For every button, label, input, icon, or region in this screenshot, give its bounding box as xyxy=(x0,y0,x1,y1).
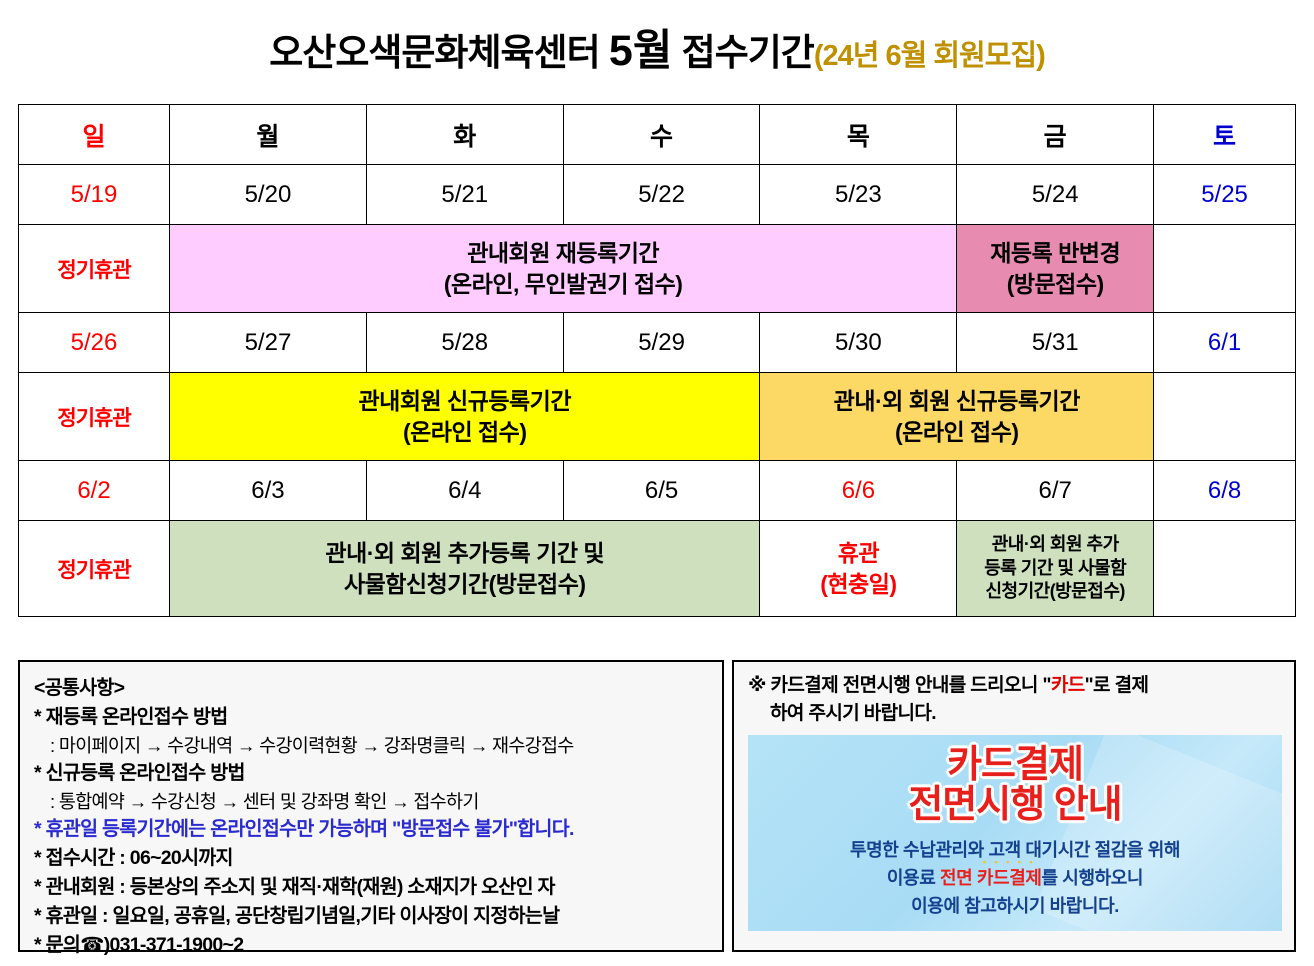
common-notes-panel: <공통사항> * 재등록 온라인접수 방법 : 마이페이지 → 수강내역 → 수… xyxy=(18,660,724,952)
week1-class-change-line1: 재등록 반변경 xyxy=(960,238,1150,269)
day-header-tue: 화 xyxy=(366,105,563,165)
day-header-mon: 월 xyxy=(170,105,367,165)
banner-body-line2-red2: 카드결제 xyxy=(977,868,1042,888)
week3-saturday-cell xyxy=(1154,521,1296,617)
week1-event-row: 정기휴관 관내회원 재등록기간 (온라인, 무인발권기 접수) 재등록 반변경 … xyxy=(19,225,1296,313)
date-cell-5-28: 5/28 xyxy=(366,313,563,373)
banner-body-line3: 이용에 참고하시기 바랍니다. xyxy=(850,893,1180,921)
date-cell-5-30: 5/30 xyxy=(760,313,957,373)
date-cell-5-25: 5/25 xyxy=(1154,165,1296,225)
week3-additional-registration-fri-line2: 등록 기간 및 사물함 xyxy=(960,557,1150,580)
date-cell-6-6: 6/6 xyxy=(760,461,957,521)
date-cell-6-1: 6/1 xyxy=(1154,313,1296,373)
week1-class-change-line2: (방문접수) xyxy=(960,269,1150,300)
card-notice-text-b: "로 결제 xyxy=(1085,675,1149,696)
week2-new-member-all-cell: 관내·외 회원 신규등록기간 (온라인 접수) xyxy=(760,373,1154,461)
page-title-main: 오산오색문화체육센터 xyxy=(269,32,609,73)
date-cell-5-24: 5/24 xyxy=(957,165,1154,225)
page-title-subtitle: (24년 6월 회원모집) xyxy=(814,40,1045,72)
notes-line-2: : 마이페이지 → 수강내역 → 수강이력현황 → 강좌명클릭 → 재수강접수 xyxy=(34,732,712,759)
banner-headline-line2: 전면시행 안내 xyxy=(908,786,1121,825)
week1-closed-cell: 정기휴관 xyxy=(19,225,170,313)
banner-body-text: 투명한 수납관리와 고객 대기시간 절감을 위해 이용료 전면 카드결제를 시행… xyxy=(850,837,1180,921)
date-cell-5-27: 5/27 xyxy=(170,313,367,373)
date-cell-5-20: 5/20 xyxy=(170,165,367,225)
page-title-period: 접수기간 xyxy=(672,32,813,73)
date-cell-6-8: 6/8 xyxy=(1154,461,1296,521)
banner-body-line2-b: 를 시행하오니 xyxy=(1042,868,1144,888)
day-header-sun: 일 xyxy=(19,105,170,165)
date-cell-6-2: 6/2 xyxy=(19,461,170,521)
contact-number: )031-371-1900~2 xyxy=(104,934,244,956)
week1-reregistration-cell: 관내회원 재등록기간 (온라인, 무인발권기 접수) xyxy=(170,225,957,313)
week2-new-member-local-line2: (온라인 접수) xyxy=(173,417,756,448)
day-header-fri: 금 xyxy=(957,105,1154,165)
date-cell-5-31: 5/31 xyxy=(957,313,1154,373)
notes-line-7: * 관내회원 : 등본상의 주소지 및 재직·재학(재원) 소재지가 오산인 자 xyxy=(34,873,712,902)
week1-class-change-cell: 재등록 반변경 (방문접수) xyxy=(957,225,1154,313)
schedule-poster: 오산오색문화체육센터 5월 접수기간(24년 6월 회원모집) 일 월 화 수 … xyxy=(0,0,1314,966)
contact-label: * 문의 xyxy=(34,934,80,956)
notes-line-3: * 신규등록 온라인접수 방법 xyxy=(34,759,712,788)
date-cell-6-5: 6/5 xyxy=(563,461,760,521)
week3-date-row: 6/2 6/3 6/4 6/5 6/6 6/7 6/8 xyxy=(19,461,1296,521)
week3-additional-registration-cell: 관내·외 회원 추가등록 기간 및 사물함신청기간(방문접수) xyxy=(170,521,760,617)
week2-event-row: 정기휴관 관내회원 신규등록기간 (온라인 접수) 관내·외 회원 신규등록기간… xyxy=(19,373,1296,461)
week1-reregistration-line1: 관내회원 재등록기간 xyxy=(173,238,953,269)
date-cell-5-26: 5/26 xyxy=(19,313,170,373)
week3-memorial-holiday-line2: (현충일) xyxy=(763,569,953,600)
week2-new-member-all-line2: (온라인 접수) xyxy=(763,417,1150,448)
date-cell-6-3: 6/3 xyxy=(170,461,367,521)
notes-line-5-highlight: * 휴관일 등록기간에는 온라인접수만 가능하며 "방문접수 불가"합니다. xyxy=(34,815,712,844)
day-header-wed: 수 xyxy=(563,105,760,165)
banner-body-line2-a: 이용료 xyxy=(887,868,940,888)
date-cell-6-7: 6/7 xyxy=(957,461,1154,521)
notes-line-9-contact: * 문의☎)031-371-1900~2 xyxy=(34,931,712,960)
card-notice-keyword: 카드 xyxy=(1051,675,1085,696)
date-cell-5-21: 5/21 xyxy=(366,165,563,225)
banner-body-line2: 이용료 전면 카드결제를 시행하오니 xyxy=(850,865,1180,893)
week1-date-row: 5/19 5/20 5/21 5/22 5/23 5/24 5/25 xyxy=(19,165,1296,225)
notes-line-1: * 재등록 온라인접수 방법 xyxy=(34,703,712,732)
week3-closed-cell: 정기휴관 xyxy=(19,521,170,617)
card-notice-line2: 하여 주시기 바랍니다. xyxy=(748,700,1282,728)
card-notice-line1: ※ 카드결제 전면시행 안내를 드리오니 "카드"로 결제 xyxy=(748,672,1282,700)
week2-saturday-cell xyxy=(1154,373,1296,461)
week2-new-member-local-cell: 관내회원 신규등록기간 (온라인 접수) xyxy=(170,373,760,461)
date-cell-5-19: 5/19 xyxy=(19,165,170,225)
notes-line-6: * 접수시간 : 06~20시까지 xyxy=(34,844,712,873)
card-notice-text-a: ※ 카드결제 전면시행 안내를 드리오니 " xyxy=(748,675,1051,696)
banner-headline: 카드결제 전면시행 안내 xyxy=(908,746,1121,826)
calendar-header-row: 일 월 화 수 목 금 토 xyxy=(19,105,1296,165)
date-cell-5-29: 5/29 xyxy=(563,313,760,373)
registration-calendar: 일 월 화 수 목 금 토 5/19 5/20 5/21 5/22 5/23 5… xyxy=(18,104,1296,617)
banner-body-line2-red1: 전면 xyxy=(940,868,977,888)
week2-closed-cell: 정기휴관 xyxy=(19,373,170,461)
week2-date-row: 5/26 5/27 5/28 5/29 5/30 5/31 6/1 xyxy=(19,313,1296,373)
date-cell-5-22: 5/22 xyxy=(563,165,760,225)
week2-new-member-local-line1: 관내회원 신규등록기간 xyxy=(173,386,756,417)
notes-line-4: : 통합예약 → 수강신청 → 센터 및 강좌명 확인 → 접수하기 xyxy=(34,788,712,815)
week3-additional-registration-fri-line1: 관내·외 회원 추가 xyxy=(960,533,1150,556)
card-payment-banner-image: 카드결제 전면시행 안내 투명한 수납관리와 고객 대기시간 절감을 위해 이용… xyxy=(748,735,1282,931)
banner-headline-line1: 카드결제 xyxy=(947,744,1083,786)
day-header-sat: 토 xyxy=(1154,105,1296,165)
week1-saturday-cell xyxy=(1154,225,1296,313)
card-payment-panel: ※ 카드결제 전면시행 안내를 드리오니 "카드"로 결제 하여 주시기 바랍니… xyxy=(732,660,1296,952)
week3-memorial-holiday-cell: 휴관 (현충일) xyxy=(760,521,957,617)
week3-additional-registration-line1: 관내·외 회원 추가등록 기간 및 xyxy=(173,538,756,569)
week3-event-row: 정기휴관 관내·외 회원 추가등록 기간 및 사물함신청기간(방문접수) 휴관 … xyxy=(19,521,1296,617)
week2-new-member-all-line1: 관내·외 회원 신규등록기간 xyxy=(763,386,1150,417)
date-cell-5-23: 5/23 xyxy=(760,165,957,225)
notes-heading: <공통사항> xyxy=(34,674,712,703)
page-title-month: 5월 xyxy=(609,27,672,75)
date-cell-6-4: 6/4 xyxy=(366,461,563,521)
day-header-thu: 목 xyxy=(760,105,957,165)
week3-additional-registration-fri-cell: 관내·외 회원 추가 등록 기간 및 사물함 신청기간(방문접수) xyxy=(957,521,1154,617)
notes-line-8: * 휴관일 : 일요일, 공휴일, 공단창립기념일,기타 이사장이 지정하는날 xyxy=(34,902,712,931)
week3-additional-registration-line2: 사물함신청기간(방문접수) xyxy=(173,569,756,600)
bottom-panels: <공통사항> * 재등록 온라인접수 방법 : 마이페이지 → 수강내역 → 수… xyxy=(18,660,1296,952)
telephone-icon: ☎ xyxy=(80,934,104,956)
page-title: 오산오색문화체육센터 5월 접수기간(24년 6월 회원모집) xyxy=(0,16,1314,78)
week3-additional-registration-fri-line3: 신청기간(방문접수) xyxy=(960,580,1150,603)
week1-reregistration-line2: (온라인, 무인발권기 접수) xyxy=(173,269,953,300)
week3-memorial-holiday-line1: 휴관 xyxy=(763,538,953,569)
